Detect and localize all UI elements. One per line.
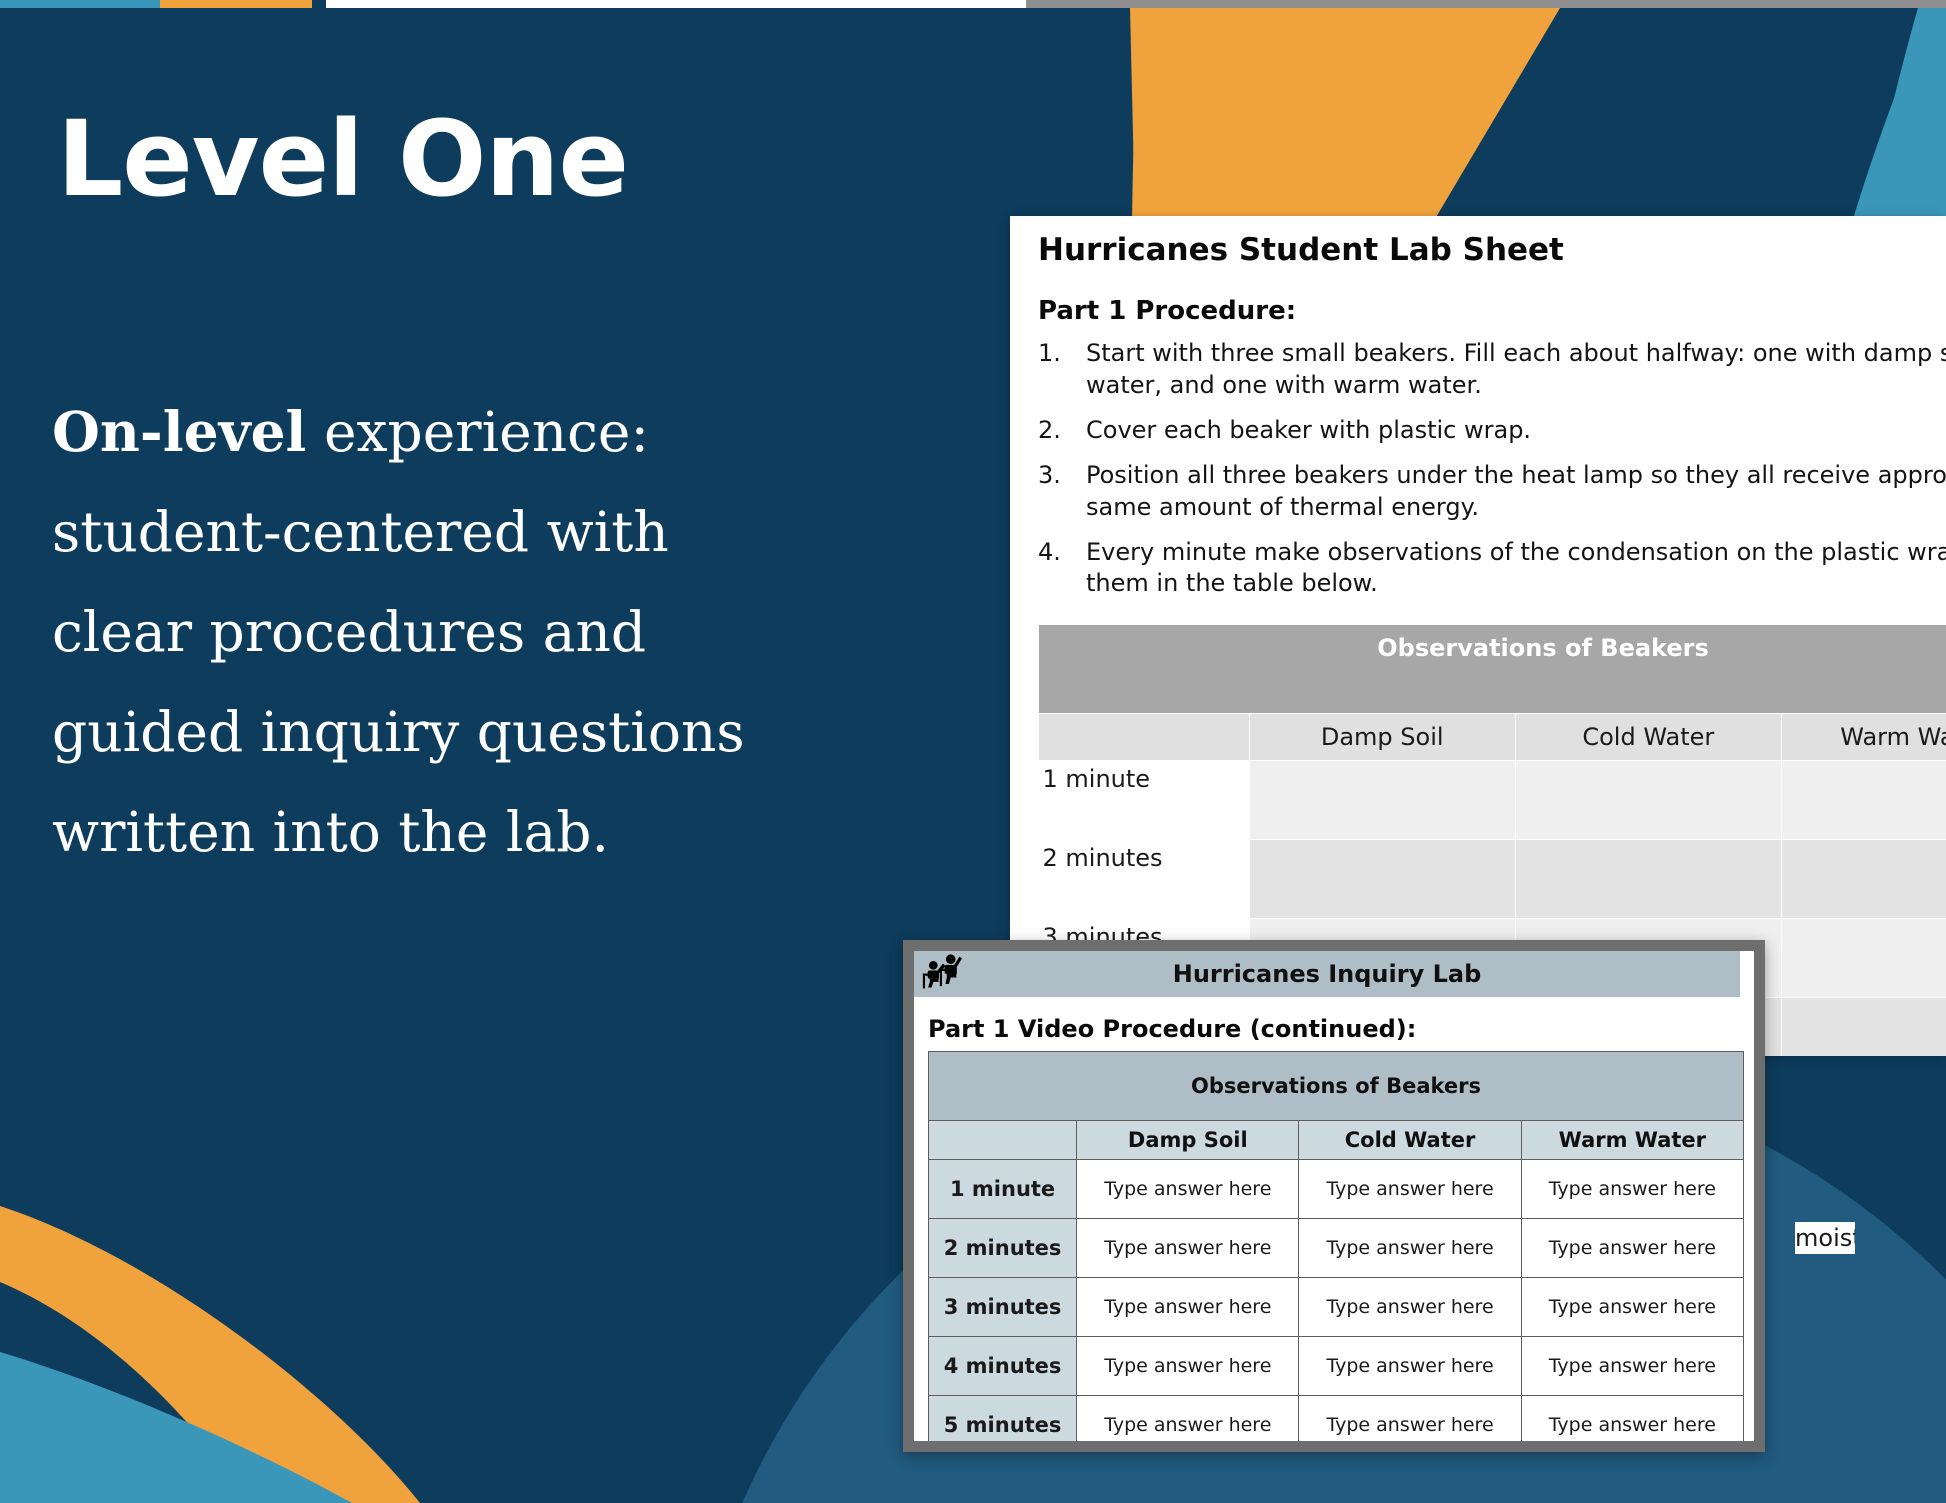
table-row: 1 minute: [1039, 761, 1946, 840]
col-header-cold-water: Cold Water: [1515, 714, 1781, 761]
answer-cell-damp-soil[interactable]: Type answer here: [1077, 1396, 1299, 1442]
cell-warm-water[interactable]: [1781, 840, 1946, 919]
procedure-step: 2. Cover each beaker with plastic wrap.: [1038, 415, 1946, 447]
col-header-damp-soil: Damp Soil: [1249, 714, 1515, 761]
answer-cell-warm-water[interactable]: Type answer here: [1521, 1219, 1743, 1278]
answer-cell-cold-water[interactable]: Type answer here: [1299, 1219, 1521, 1278]
answer-cell-damp-soil[interactable]: Type answer here: [1077, 1337, 1299, 1396]
col-header-damp-soil: Damp Soil: [1077, 1121, 1299, 1160]
row-label: 1 minute: [1039, 761, 1250, 840]
cell-warm-water[interactable]: [1781, 998, 1946, 1056]
table-row: 2 minutes: [1039, 840, 1946, 919]
col-header-blank: [1039, 714, 1250, 761]
row-label: 3 minutes: [929, 1278, 1077, 1337]
answer-cell-damp-soil[interactable]: Type answer here: [1077, 1160, 1299, 1219]
table-row: 3 minutes Type answer here Type answer h…: [929, 1278, 1744, 1337]
table-caption-row: Observations of Beakers: [1039, 625, 1946, 714]
step-number: 4.: [1038, 537, 1072, 569]
step-number: 3.: [1038, 460, 1072, 492]
row-label: 4 minutes: [929, 1337, 1077, 1396]
cell-cold-water[interactable]: [1515, 761, 1781, 840]
table-caption: Observations of Beakers: [929, 1052, 1744, 1121]
answer-cell-damp-soil[interactable]: Type answer here: [1077, 1219, 1299, 1278]
col-header-warm-water: Warm Water: [1521, 1121, 1743, 1160]
answer-cell-cold-water[interactable]: Type answer here: [1299, 1160, 1521, 1219]
row-label: 1 minute: [929, 1160, 1077, 1219]
procedure-step: 3. Position all three beakers under the …: [1038, 460, 1946, 524]
top-edge-strip: [0, 0, 1946, 8]
strip-seg-orange: [160, 0, 312, 8]
answer-cell-warm-water[interactable]: Type answer here: [1521, 1337, 1743, 1396]
col-header-cold-water: Cold Water: [1299, 1121, 1521, 1160]
step-text: Cover each beaker with plastic wrap.: [1086, 416, 1531, 444]
back-doc-title: Hurricanes Student Lab Sheet: [1038, 232, 1946, 268]
cell-warm-water[interactable]: [1781, 919, 1946, 998]
students-raising-hands-icon: [920, 954, 964, 994]
procedure-step: 1. Start with three small beakers. Fill …: [1038, 338, 1946, 402]
cell-damp-soil[interactable]: [1249, 840, 1515, 919]
front-doc-banner: Hurricanes Inquiry Lab: [914, 951, 1740, 997]
strip-seg-white: [326, 0, 1026, 8]
front-doc-title: Hurricanes Inquiry Lab: [1173, 960, 1482, 988]
table-caption: Observations of Beakers: [1039, 625, 1946, 714]
table-row: 4 minutes Type answer here Type answer h…: [929, 1337, 1744, 1396]
page-title: Level One: [57, 105, 628, 213]
slide-body-rest: experience: student-centered with clear …: [52, 400, 745, 864]
strip-seg-gray: [1026, 0, 1946, 8]
procedure-steps-list: 1. Start with three small beakers. Fill …: [1038, 338, 1946, 600]
cell-cold-water[interactable]: [1515, 840, 1781, 919]
answer-cell-warm-water[interactable]: Type answer here: [1521, 1396, 1743, 1442]
table-header-row: Damp Soil Cold Water Warm Water: [929, 1121, 1744, 1160]
inquiry-lab-document[interactable]: Hurricanes Inquiry Lab Part 1 Video Proc…: [903, 940, 1765, 1452]
strip-seg-navy: [312, 0, 326, 8]
answer-cell-cold-water[interactable]: Type answer here: [1299, 1278, 1521, 1337]
cell-damp-soil[interactable]: [1249, 761, 1515, 840]
table-header-row: Damp Soil Cold Water Warm Water: [1039, 714, 1946, 761]
answer-cell-cold-water[interactable]: Type answer here: [1299, 1396, 1521, 1442]
procedure-step: 4. Every minute make observations of the…: [1038, 537, 1946, 601]
back-doc-section-heading: Part 1 Procedure:: [1038, 296, 1946, 326]
table-row: 1 minute Type answer here Type answer he…: [929, 1160, 1744, 1219]
answer-cell-cold-water[interactable]: Type answer here: [1299, 1337, 1521, 1396]
slide-body-text: On-level experience: student-centered wi…: [52, 382, 812, 882]
step-number: 1.: [1038, 338, 1072, 370]
answer-cell-damp-soil[interactable]: Type answer here: [1077, 1278, 1299, 1337]
front-doc-section-heading: Part 1 Video Procedure (continued):: [928, 1015, 1740, 1043]
cell-warm-water[interactable]: [1781, 761, 1946, 840]
answer-cell-warm-water[interactable]: Type answer here: [1521, 1160, 1743, 1219]
strip-seg-teal: [0, 0, 160, 8]
table-row: 5 minutes Type answer here Type answer h…: [929, 1396, 1744, 1442]
table-caption-row: Observations of Beakers: [929, 1052, 1744, 1121]
row-label: 2 minutes: [929, 1219, 1077, 1278]
step-number: 2.: [1038, 415, 1072, 447]
step-text: Start with three small beakers. Fill eac…: [1086, 339, 1946, 399]
back-doc-tail-text: moisture: [1795, 1222, 1855, 1254]
col-header-warm-water: Warm Water: [1781, 714, 1946, 761]
slide-body-lead: On-level: [52, 399, 306, 464]
col-header-blank: [929, 1121, 1077, 1160]
row-label: 5 minutes: [929, 1396, 1077, 1442]
row-label: 2 minutes: [1039, 840, 1250, 919]
table-row: 2 minutes Type answer here Type answer h…: [929, 1219, 1744, 1278]
student-lab-sheet-document[interactable]: Hurricanes Student Lab Sheet Part 1 Proc…: [1010, 216, 1946, 1056]
step-text: Every minute make observations of the co…: [1086, 538, 1946, 598]
answer-cell-warm-water[interactable]: Type answer here: [1521, 1278, 1743, 1337]
front-observations-table: Observations of Beakers Damp Soil Cold W…: [928, 1051, 1744, 1441]
step-text: Position all three beakers under the hea…: [1086, 461, 1946, 521]
